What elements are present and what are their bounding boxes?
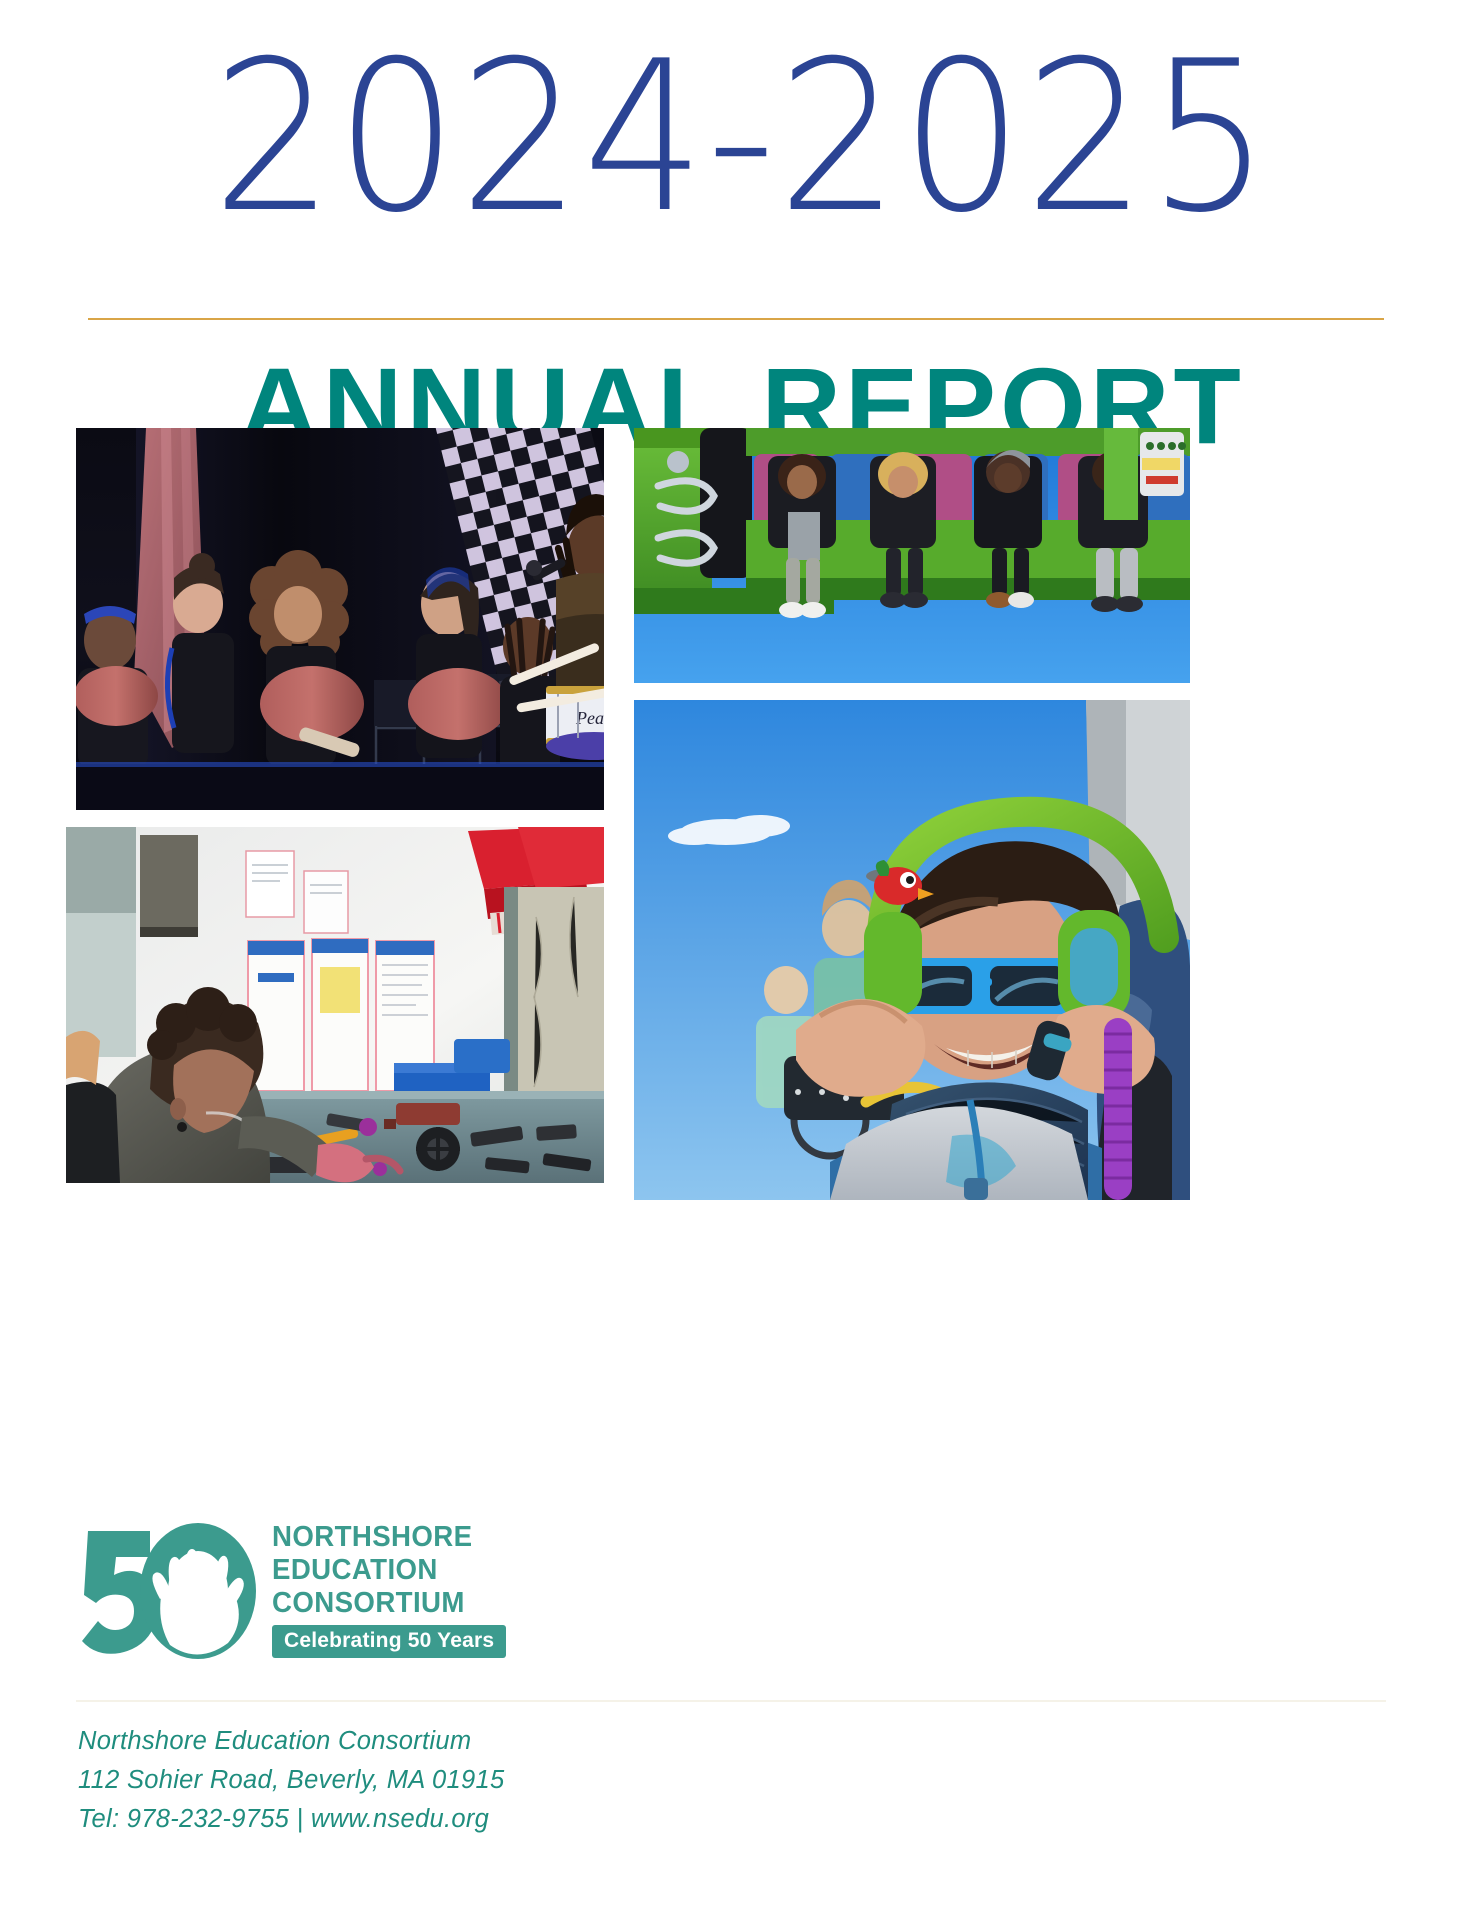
photo-amusement-park-ride	[634, 428, 1190, 683]
organization-logo: NORTHSHORE EDUCATION CONSORTIUM Celebrat…	[76, 1517, 536, 1667]
photo-vocational-workshop	[66, 827, 604, 1183]
logo-line-2: EDUCATION	[272, 1554, 526, 1587]
footer-organization: Northshore Education Consortium	[78, 1722, 978, 1761]
logo-line-1: NORTHSHORE	[272, 1521, 526, 1554]
footer-contact-block: Northshore Education Consortium 112 Sohi…	[78, 1722, 978, 1839]
report-cover-page: 2024-2025 ANNUAL REPORT	[0, 0, 1484, 1920]
photo-student-outdoors	[634, 700, 1190, 1200]
logo-wordmark: NORTHSHORE EDUCATION CONSORTIUM Celebrat…	[272, 1521, 534, 1658]
footer-address: 112 Sohier Road, Beverly, MA 01915	[78, 1761, 978, 1800]
page-year-range: 2024-2025	[115, 34, 1370, 242]
logo-line-3: CONSORTIUM	[272, 1587, 526, 1620]
svg-text:Pearl: Pearl	[575, 708, 604, 728]
footer-contact: Tel: 978-232-9755 | www.nsedu.org	[78, 1800, 978, 1839]
gold-divider-rule	[88, 318, 1384, 320]
photo-drumline-performance: Pearl	[76, 428, 604, 810]
logo-50-mark-icon	[76, 1517, 260, 1665]
footer-divider-rule	[76, 1700, 1386, 1702]
logo-anniversary-badge: Celebrating 50 Years	[272, 1625, 506, 1658]
